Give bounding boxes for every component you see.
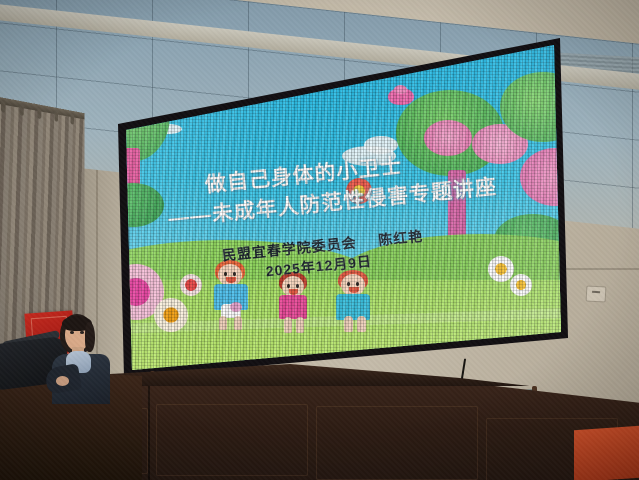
presenter-eye bbox=[70, 331, 74, 334]
curtain-hook bbox=[1, 99, 5, 113]
desk-seam bbox=[148, 386, 150, 480]
flower bbox=[180, 274, 202, 296]
flower bbox=[346, 178, 372, 204]
desk-panel bbox=[156, 404, 308, 476]
presenter-hand bbox=[56, 376, 69, 386]
tree-blossom bbox=[424, 120, 472, 156]
flower bbox=[510, 274, 532, 296]
presenter-hair-side bbox=[85, 322, 95, 352]
child-figure bbox=[208, 260, 258, 332]
cloud bbox=[364, 136, 398, 154]
child-figure bbox=[274, 272, 320, 340]
wall-seam-horizontal bbox=[560, 268, 639, 270]
wall-power-outlet[interactable] bbox=[586, 285, 607, 302]
flower bbox=[154, 298, 188, 332]
desk-panel bbox=[316, 406, 478, 480]
child-figure bbox=[332, 270, 382, 340]
seated-presenter bbox=[44, 314, 124, 394]
curtain-hook bbox=[20, 103, 24, 116]
bird-wing bbox=[394, 85, 407, 94]
red-floor-strip bbox=[574, 426, 639, 480]
flower bbox=[488, 256, 514, 282]
curtain-hook bbox=[37, 106, 41, 119]
lecture-hall-photo: 做自己身体的小卫士 ——未成年人防范性侵害专题讲座 民盟宜春学院委员会陈红艳 2… bbox=[0, 0, 639, 480]
curtain-hook bbox=[71, 112, 75, 124]
tree-trunk bbox=[448, 170, 466, 242]
presenter-eye bbox=[80, 331, 84, 334]
curtain-hook bbox=[54, 109, 58, 122]
